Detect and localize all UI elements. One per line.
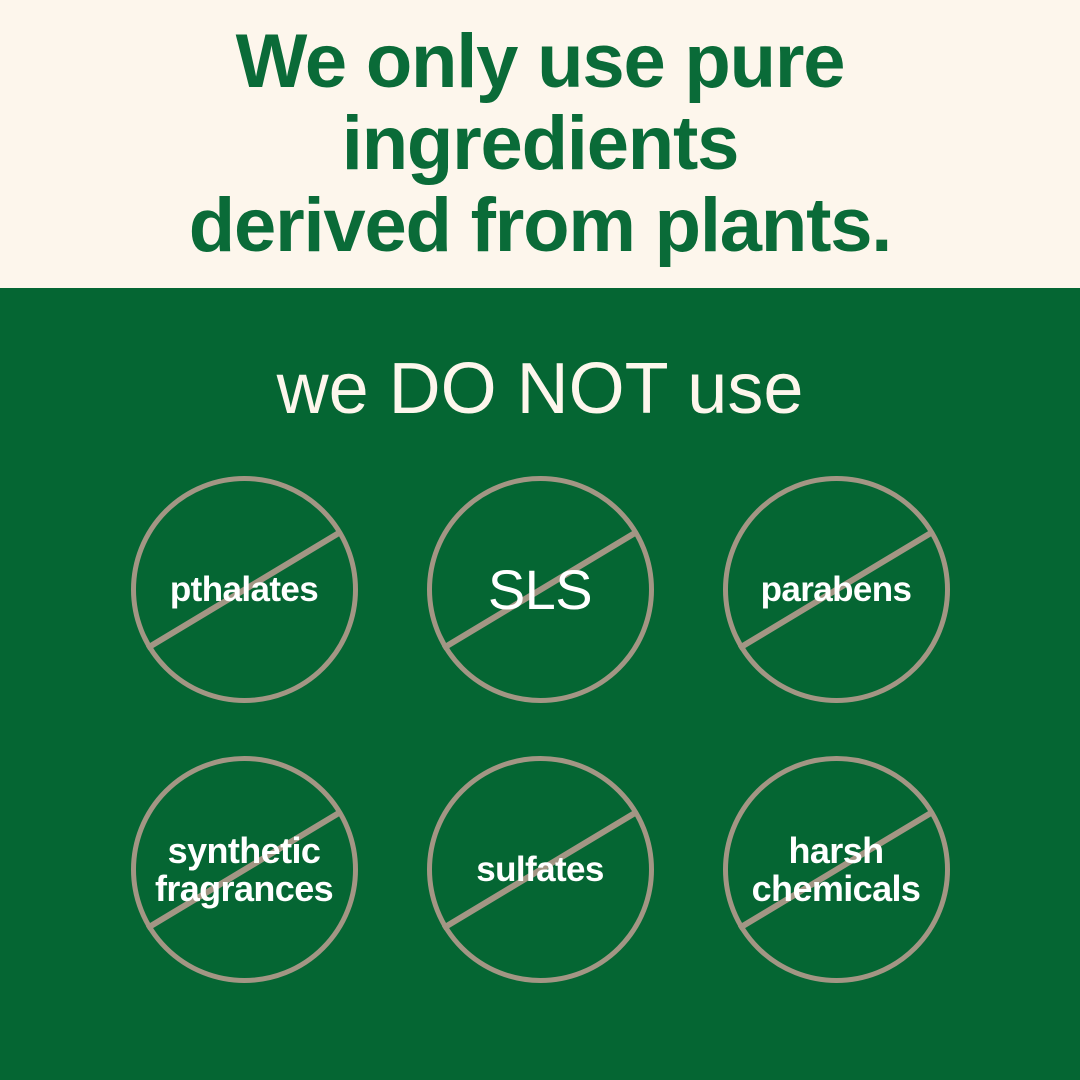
excluded-ingredient-label: sulfates [427,756,654,983]
headline-band: We only use pure ingredients derived fro… [0,0,1080,288]
excluded-ingredients-row-2: synthetic fragrances sulfates harsh chem… [0,756,1080,983]
ingredient-promise-poster: We only use pure ingredients derived fro… [0,0,1080,1080]
excluded-ingredient-label: SLS [427,476,654,703]
do-not-use-section: we DO NOT use pthalates SLS parabens [0,288,1080,1080]
excluded-ingredient-synthetic-fragrances: synthetic fragrances [131,756,358,983]
excluded-ingredient-label: harsh chemicals [723,756,950,983]
excluded-ingredient-sulfates: sulfates [427,756,654,983]
excluded-ingredient-label: parabens [723,476,950,703]
excluded-ingredient-label: pthalates [131,476,358,703]
excluded-ingredient-pthalates: pthalates [131,476,358,703]
section-subheading: we DO NOT use [0,348,1080,430]
excluded-ingredients-row-1: pthalates SLS parabens [0,476,1080,703]
page-title: We only use pure ingredients derived fro… [40,21,1040,267]
excluded-ingredients-grid: pthalates SLS parabens syntheti [0,476,1080,1036]
excluded-ingredient-label: synthetic fragrances [131,756,358,983]
excluded-ingredient-sls: SLS [427,476,654,703]
excluded-ingredient-harsh-chemicals: harsh chemicals [723,756,950,983]
excluded-ingredient-parabens: parabens [723,476,950,703]
